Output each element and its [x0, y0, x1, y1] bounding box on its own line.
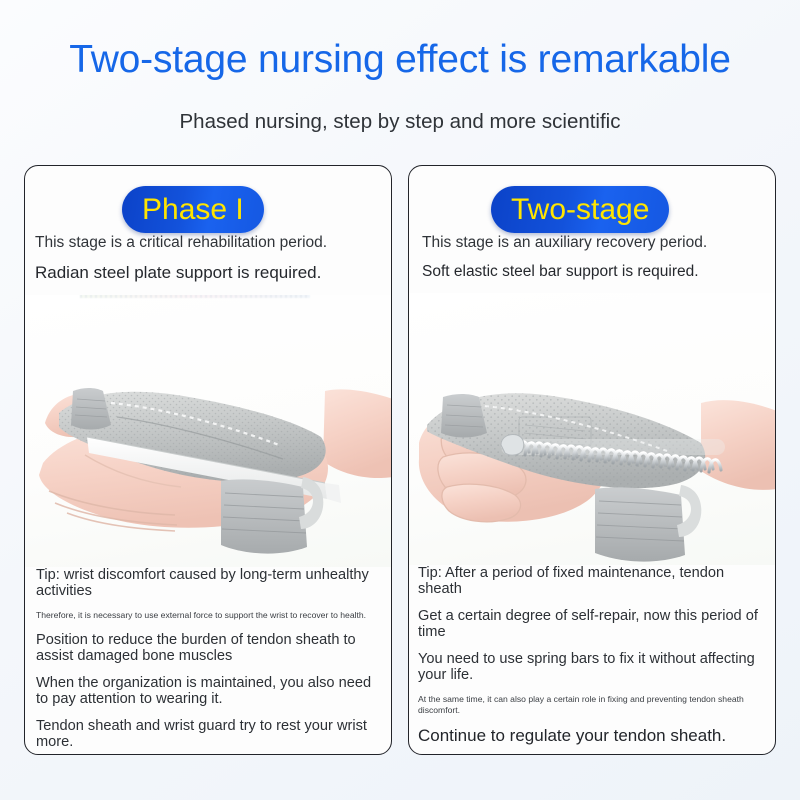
page-subtitle: Phased nursing, step by step and more sc…: [0, 110, 800, 134]
brace-illustration: [25, 295, 391, 567]
tip-line: Position to reduce the burden of tendon …: [36, 632, 382, 664]
promo-graphic: Two-stage nursing effect is remarkable P…: [0, 0, 800, 800]
page-title: Two-stage nursing effect is remarkable: [0, 38, 800, 82]
panel-two-stage: Two-stage This stage is an auxiliary rec…: [408, 165, 776, 755]
product-photo-steel-plate: [25, 295, 391, 567]
tip-line: Tip: wrist discomfort caused by long-ter…: [36, 567, 382, 599]
tip-line: Therefore, it is necessary to use extern…: [36, 610, 382, 621]
phase-badge: Two-stage: [491, 186, 669, 233]
tip-line: Tendon sheath and wrist guard try to res…: [36, 718, 382, 750]
tip-block: Tip: After a period of fixed maintenance…: [409, 565, 775, 746]
description-line-2: Soft elastic steel bar support is requir…: [422, 263, 775, 281]
tip-line: You need to use spring bars to fix it wi…: [418, 651, 766, 683]
tip-line: Tip: After a period of fixed maintenance…: [418, 565, 766, 597]
badge-row: Two-stage: [409, 166, 775, 234]
description-line-1: This stage is a critical rehabilitation …: [35, 234, 391, 252]
tip-line: At the same time, it can also play a cer…: [418, 694, 766, 715]
description-line-2: Radian steel plate support is required.: [35, 263, 391, 283]
tip-line: When the organization is maintained, you…: [36, 675, 382, 707]
tip-block: Tip: wrist discomfort caused by long-ter…: [25, 567, 391, 750]
panel-phase-one: Phase I This stage is a critical rehabil…: [24, 165, 392, 755]
phase-badge: Phase I: [122, 186, 264, 233]
description-line-1: This stage is an auxiliary recovery peri…: [422, 234, 775, 252]
brace-illustration: [409, 293, 775, 565]
tip-line: Get a certain degree of self-repair, now…: [418, 608, 766, 640]
phase-description: This stage is an auxiliary recovery peri…: [409, 234, 775, 281]
tip-line: Continue to regulate your tendon sheath.: [418, 726, 766, 746]
badge-row: Phase I: [25, 166, 391, 234]
product-photo-spring-bar: [409, 293, 775, 565]
phase-description: This stage is a critical rehabilitation …: [25, 234, 391, 283]
